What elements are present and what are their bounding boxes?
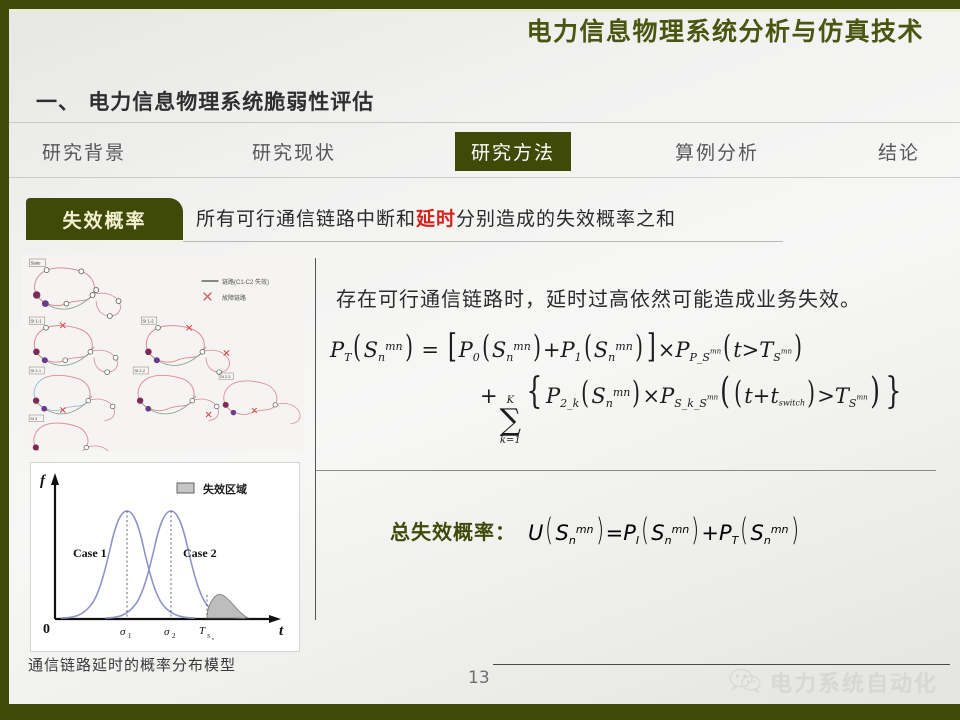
nav-item-background[interactable]: 研究背景	[36, 134, 132, 169]
left-accent-bar	[0, 9, 9, 720]
subsection-tab[interactable]: 失效概率	[26, 198, 183, 240]
brand-name: 电力系统自动化	[770, 666, 938, 698]
nav-item-status[interactable]: 研究现状	[246, 134, 342, 169]
total-failure-probability-label: 总失效概率：	[390, 516, 516, 545]
subsection-tab-label: 失效概率	[62, 206, 146, 233]
origin-label: 0	[43, 622, 50, 637]
svg-text:链路(C1-C2 失效): 链路(C1-C2 失效)	[222, 278, 269, 286]
slide-canvas: 电力信息物理系统分析与仿真技术 一、 电力信息物理系统脆弱性评估 研究背景 研究…	[0, 0, 960, 720]
formula-line-2: +K∑k=1{P2_k(Snmn)×PS_k_Smn((t+tswitch)>T…	[480, 371, 905, 446]
nav-item-method[interactable]: 研究方法	[455, 132, 571, 171]
xtick-threshold: T	[199, 625, 206, 637]
chart-caption: 通信链路延时的概率分布模型	[28, 654, 236, 675]
section-nav: 研究背景 研究现状 研究方法 算例分析 结论	[9, 130, 960, 174]
total-failure-probability-formula: U(Snmn)=PI(Snmn)+PT(Snmn)	[528, 512, 801, 548]
subsection-description-before: 所有可行通信链路中断和	[196, 208, 416, 230]
svg-text:St 2-1: St 2-1	[30, 368, 42, 373]
subsection-description-highlight: 延时	[416, 208, 456, 230]
case2-annotation: Case 2	[183, 546, 217, 560]
svg-text:State: State	[30, 261, 41, 266]
total-failure-probability-row: 总失效概率： U(Snmn)=PI(Snmn)+PT(Snmn)	[390, 512, 801, 548]
lead-statement: 存在可行通信链路时，延时过高依然可能造成业务失效。	[336, 283, 861, 312]
nav-item-case-study[interactable]: 算例分析	[669, 134, 765, 169]
subsection-description: 所有可行通信链路中断和延时分别造成的失效概率之和	[196, 204, 676, 231]
failure-probability-formula: PT(Snmn) = [P0(Snmn)+P1(Snmn)]×PP_Smn(t>…	[330, 326, 940, 446]
section-heading: 一、 电力信息物理系统脆弱性评估	[36, 86, 374, 116]
network-state-diagram: State St 1-1	[22, 255, 304, 451]
svg-text:故障链路: 故障链路	[222, 294, 246, 302]
page-number: 13	[468, 668, 490, 688]
brand-watermark: 电力系统自动化	[728, 666, 938, 698]
svg-text:n: n	[212, 636, 214, 641]
svg-text:St 1-1: St 1-1	[30, 318, 42, 323]
delay-distribution-chart: f t 0 σ 1 σ 2 T S n Case 1 Case 2 失效区域	[30, 462, 300, 652]
xtick-sigma2: σ	[164, 626, 170, 638]
case1-annotation: Case 1	[73, 546, 107, 560]
svg-text:St 2-3: St 2-3	[220, 375, 230, 379]
heading-divider	[9, 122, 960, 123]
wechat-icon	[728, 667, 762, 697]
horizontal-divider	[316, 470, 936, 471]
svg-text:St 2-2: St 2-2	[134, 368, 146, 373]
nav-item-conclusion[interactable]: 结论	[872, 134, 926, 169]
svg-text:St 3: St 3	[30, 416, 37, 421]
subsection-description-after: 分别造成的失效概率之和	[456, 208, 676, 230]
footer-divider	[493, 664, 950, 665]
svg-text:2: 2	[172, 632, 176, 640]
deck-title: 电力信息物理系统分析与仿真技术	[526, 12, 924, 48]
svg-text:1: 1	[128, 632, 132, 640]
svg-text:S: S	[207, 634, 210, 640]
nav-divider	[9, 177, 960, 178]
xtick-sigma1: σ	[120, 626, 126, 638]
top-accent-bar	[0, 0, 960, 9]
svg-text:St 1-2: St 1-2	[142, 318, 154, 323]
vertical-divider	[315, 258, 316, 620]
legend-label-failure-region: 失效区域	[203, 482, 247, 496]
formula-line-1: PT(Snmn) = [P0(Snmn)+P1(Snmn)]×PP_Smn(t>…	[330, 326, 804, 365]
banner-underline	[183, 241, 783, 242]
bottom-accent-bar	[0, 704, 960, 720]
